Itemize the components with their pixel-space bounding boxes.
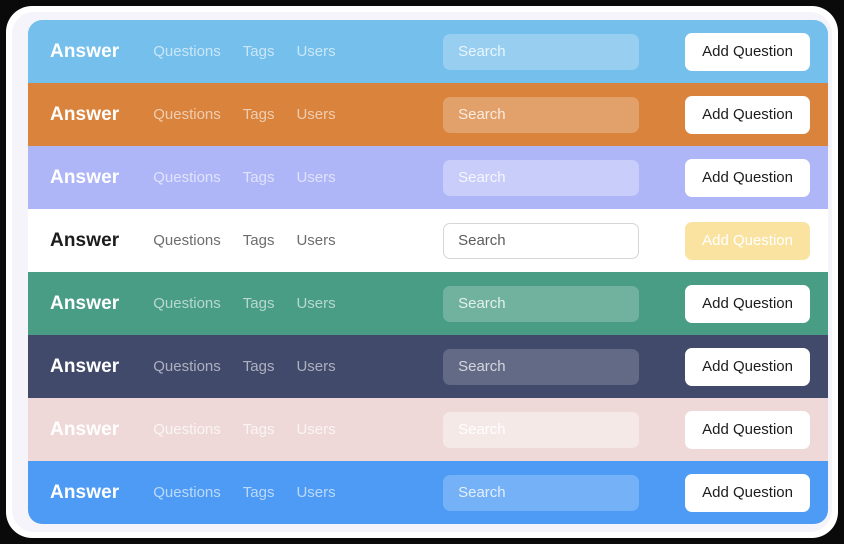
nav-link-tags[interactable]: Tags — [243, 358, 275, 375]
navbar-orange: AnswerQuestionsTagsUsersSearchAdd Questi… — [28, 83, 828, 146]
search-input[interactable]: Search — [443, 475, 639, 511]
add-question-button[interactable]: Add Question — [685, 411, 810, 449]
nav-link-questions[interactable]: Questions — [153, 484, 221, 501]
nav-link-questions[interactable]: Questions — [153, 358, 221, 375]
nav-link-users[interactable]: Users — [296, 43, 335, 60]
navbar-variant-stack: AnswerQuestionsTagsUsersSearchAdd Questi… — [28, 20, 828, 524]
nav-links: QuestionsTagsUsers — [153, 295, 335, 312]
add-question-button[interactable]: Add Question — [685, 96, 810, 134]
add-question-button[interactable]: Add Question — [685, 33, 810, 71]
nav-link-tags[interactable]: Tags — [243, 295, 275, 312]
navbar-green: AnswerQuestionsTagsUsersSearchAdd Questi… — [28, 272, 828, 335]
nav-link-tags[interactable]: Tags — [243, 421, 275, 438]
brand-logo[interactable]: Answer — [50, 41, 119, 63]
nav-links: QuestionsTagsUsers — [153, 484, 335, 501]
brand-logo[interactable]: Answer — [50, 230, 119, 252]
nav-link-tags[interactable]: Tags — [243, 232, 275, 249]
nav-link-users[interactable]: Users — [296, 295, 335, 312]
navbar-pink: AnswerQuestionsTagsUsersSearchAdd Questi… — [28, 398, 828, 461]
search-input[interactable]: Search — [443, 97, 639, 133]
nav-links: QuestionsTagsUsers — [153, 169, 335, 186]
search-input[interactable]: Search — [443, 412, 639, 448]
add-question-button[interactable]: Add Question — [685, 159, 810, 197]
nav-link-questions[interactable]: Questions — [153, 106, 221, 123]
add-question-button[interactable]: Add Question — [685, 222, 810, 260]
nav-link-users[interactable]: Users — [296, 106, 335, 123]
nav-link-questions[interactable]: Questions — [153, 232, 221, 249]
brand-logo[interactable]: Answer — [50, 293, 119, 315]
navbar-blue: AnswerQuestionsTagsUsersSearchAdd Questi… — [28, 461, 828, 524]
nav-link-users[interactable]: Users — [296, 421, 335, 438]
nav-link-tags[interactable]: Tags — [243, 169, 275, 186]
navbar-light-blue: AnswerQuestionsTagsUsersSearchAdd Questi… — [28, 20, 828, 83]
nav-link-tags[interactable]: Tags — [243, 43, 275, 60]
brand-logo[interactable]: Answer — [50, 356, 119, 378]
search-input[interactable]: Search — [443, 160, 639, 196]
nav-link-users[interactable]: Users — [296, 484, 335, 501]
brand-logo[interactable]: Answer — [50, 167, 119, 189]
brand-logo[interactable]: Answer — [50, 482, 119, 504]
nav-links: QuestionsTagsUsers — [153, 421, 335, 438]
nav-links: QuestionsTagsUsers — [153, 358, 335, 375]
nav-link-questions[interactable]: Questions — [153, 43, 221, 60]
nav-link-users[interactable]: Users — [296, 358, 335, 375]
add-question-button[interactable]: Add Question — [685, 285, 810, 323]
search-input[interactable]: Search — [443, 223, 639, 259]
search-input[interactable]: Search — [443, 349, 639, 385]
nav-links: QuestionsTagsUsers — [153, 232, 335, 249]
navbar-navy: AnswerQuestionsTagsUsersSearchAdd Questi… — [28, 335, 828, 398]
nav-link-questions[interactable]: Questions — [153, 421, 221, 438]
nav-links: QuestionsTagsUsers — [153, 106, 335, 123]
nav-link-tags[interactable]: Tags — [243, 106, 275, 123]
brand-logo[interactable]: Answer — [50, 419, 119, 441]
brand-logo[interactable]: Answer — [50, 104, 119, 126]
preview-card: AnswerQuestionsTagsUsersSearchAdd Questi… — [6, 6, 838, 538]
nav-link-users[interactable]: Users — [296, 232, 335, 249]
nav-link-tags[interactable]: Tags — [243, 484, 275, 501]
navbar-white: AnswerQuestionsTagsUsersSearchAdd Questi… — [28, 209, 828, 272]
nav-link-users[interactable]: Users — [296, 169, 335, 186]
add-question-button[interactable]: Add Question — [685, 474, 810, 512]
nav-link-questions[interactable]: Questions — [153, 295, 221, 312]
add-question-button[interactable]: Add Question — [685, 348, 810, 386]
search-input[interactable]: Search — [443, 34, 639, 70]
search-input[interactable]: Search — [443, 286, 639, 322]
nav-link-questions[interactable]: Questions — [153, 169, 221, 186]
navbar-periwinkle: AnswerQuestionsTagsUsersSearchAdd Questi… — [28, 146, 828, 209]
nav-links: QuestionsTagsUsers — [153, 43, 335, 60]
